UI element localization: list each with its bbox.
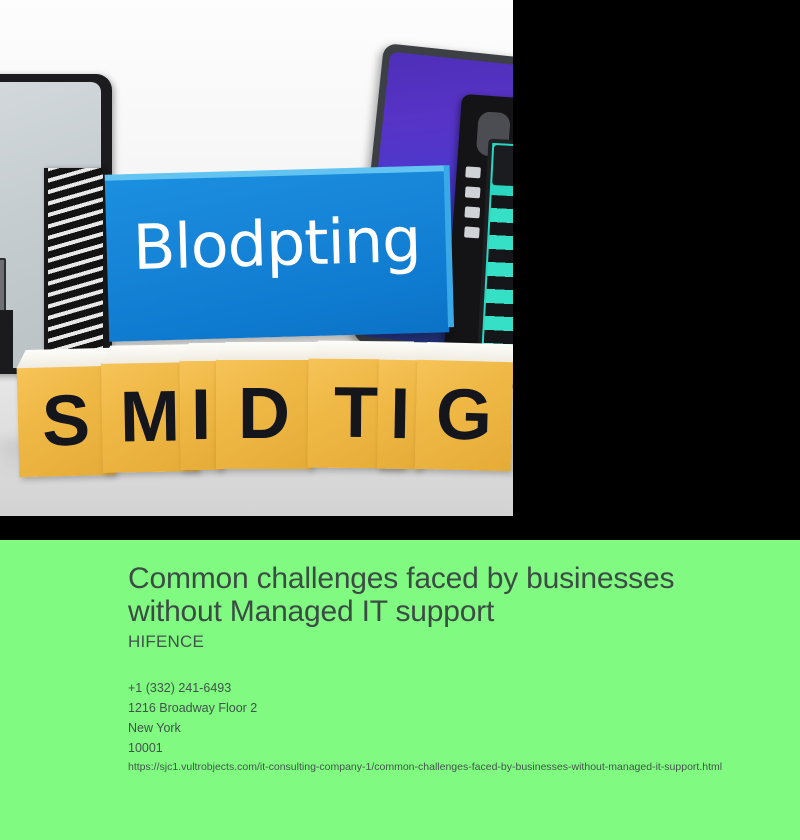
vent-grille-frame (44, 168, 106, 368)
hero-photo: Blodpting S M I D T (0, 0, 513, 516)
keypad-key (464, 206, 480, 218)
contact-zip: 10001 (128, 738, 257, 758)
contact-street: 1216 Broadway Floor 2 (128, 698, 257, 718)
caption-panel: Common challenges faced by businesses wi… (0, 540, 800, 840)
letter-block: D (216, 359, 312, 469)
letter-block-letter: G (415, 359, 513, 471)
blue-sign-text: Blodpting (106, 208, 448, 279)
black-filler-bottom (0, 516, 513, 540)
black-filler-right (513, 0, 800, 540)
keypad-key (464, 226, 480, 238)
letter-block-top-face (216, 342, 322, 360)
teal-device-top-panel (492, 145, 513, 187)
keypad-key (465, 186, 481, 198)
letter-blocks: S M I D T I G (18, 352, 513, 480)
contact-block: +1 (332) 241-6493 1216 Broadway Floor 2 … (128, 678, 257, 758)
brand-name: HIFENCE (128, 632, 204, 652)
contact-phone: +1 (332) 241-6493 (128, 678, 257, 698)
contact-city: New York (128, 718, 257, 738)
left-tablet-dark-band (0, 310, 13, 370)
letter-block-letter: D (216, 359, 312, 469)
page-title: Common challenges faced by businesses wi… (128, 562, 768, 628)
keypad-key (465, 166, 481, 178)
page-root: Blodpting S M I D T (0, 0, 800, 840)
source-url[interactable]: https://sjc1.vultrobjects.com/it-consult… (128, 760, 722, 774)
blue-sign: Blodpting (105, 170, 449, 341)
letter-block: G (415, 359, 513, 471)
